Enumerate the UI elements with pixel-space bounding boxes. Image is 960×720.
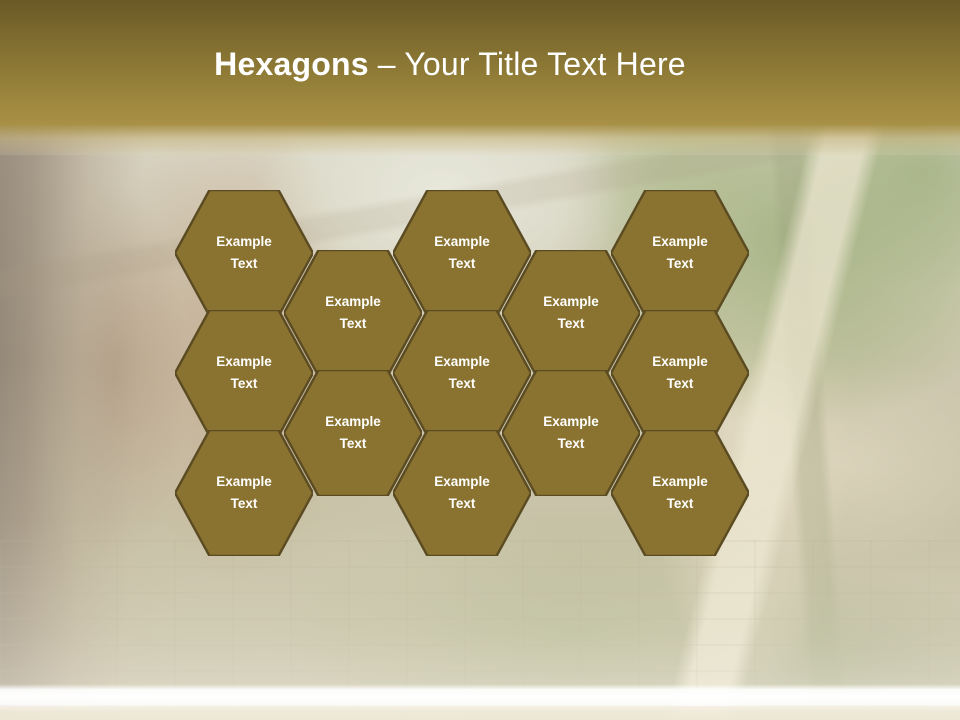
hexagon-hex-c5-r2[interactable]: ExampleText xyxy=(611,310,749,436)
hexagon-hex-c5-r1[interactable]: ExampleText xyxy=(611,190,749,316)
hexagon-grid: ExampleTextExampleTextExampleTextExample… xyxy=(0,0,960,720)
hexagon-hex-c5-r3[interactable]: ExampleText xyxy=(611,430,749,556)
hexagon-shape-icon xyxy=(611,430,749,556)
hexagon-shape-icon xyxy=(611,190,749,316)
hexagon-shape-icon xyxy=(611,310,749,436)
slide-canvas: Hexagons – Your Title Text Here ExampleT… xyxy=(0,0,960,720)
